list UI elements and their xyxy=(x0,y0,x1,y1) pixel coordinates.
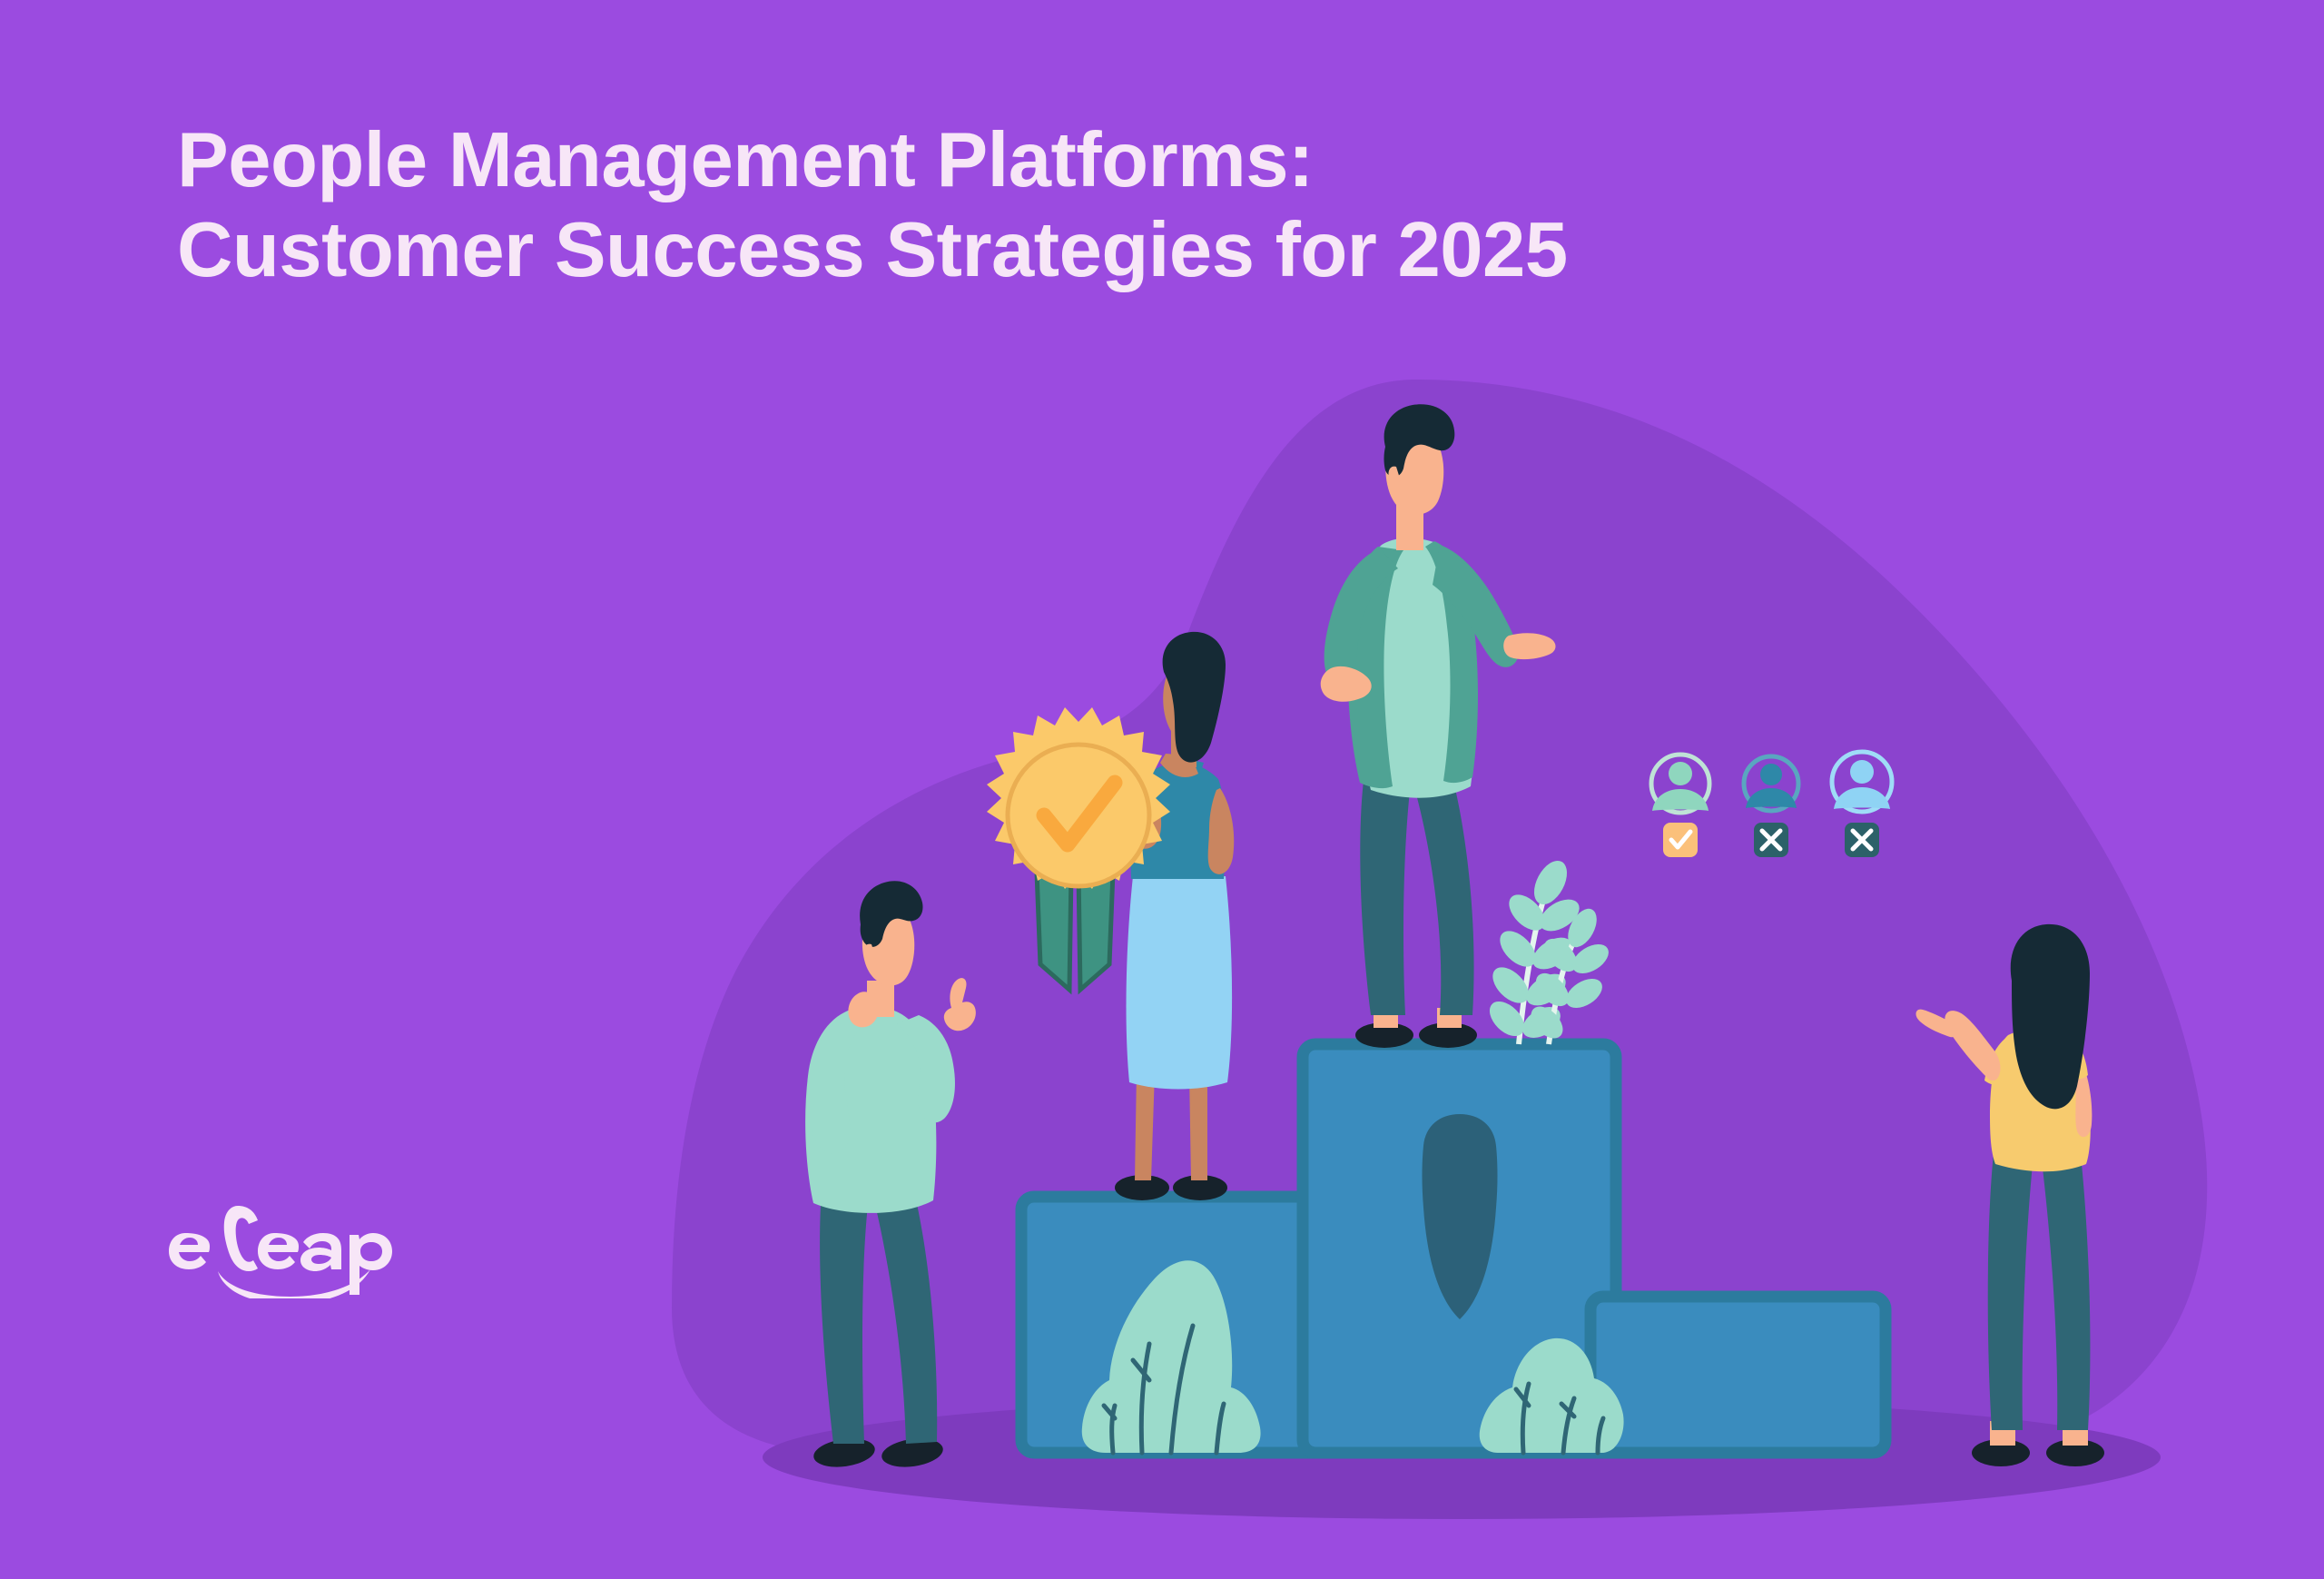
logo-letter-e2 xyxy=(258,1233,299,1269)
user-avatar-icon xyxy=(1652,762,1709,811)
award-badge-ribbon-right xyxy=(1078,872,1113,990)
banner-root: People Management Platforms: Customer Su… xyxy=(0,0,2324,1579)
left-man-hand-pointing xyxy=(944,978,976,1031)
left-man-leg-front xyxy=(871,1185,937,1444)
title-line-1: People Management Platforms: xyxy=(177,116,1993,206)
logo-letter-L xyxy=(224,1206,258,1271)
logo-letter-a xyxy=(300,1233,341,1271)
woman-with-badge xyxy=(987,632,1234,1200)
user-avatar-icon xyxy=(1746,764,1797,808)
center-man-leg-left xyxy=(1360,781,1411,1015)
award-badge-ribbon-left xyxy=(1037,872,1071,990)
right-woman-leg-right xyxy=(2041,1153,2090,1430)
woman-badge-skirt xyxy=(1127,876,1233,1090)
right-woman-leg-left xyxy=(1988,1153,2033,1430)
leaf-sprig-tall xyxy=(1483,855,1614,1044)
woman-badge-leg-left xyxy=(1135,1071,1155,1180)
left-man-neck xyxy=(867,981,894,1017)
user-avatar-rejected-1[interactable] xyxy=(1744,756,1798,857)
user-avatar-icon xyxy=(1834,760,1890,809)
user-avatar-approved[interactable] xyxy=(1651,755,1709,857)
logo-letter-e xyxy=(169,1233,210,1269)
center-man-leg-right xyxy=(1413,777,1474,1015)
center-man-hand-extended xyxy=(1503,633,1555,659)
award-badge-inner-circle xyxy=(1008,745,1149,886)
user-avatar-rejected-2[interactable] xyxy=(1832,752,1892,857)
user-status-cluster xyxy=(1651,752,1892,857)
page-title: People Management Platforms: Customer Su… xyxy=(177,116,1993,295)
eleap-logo[interactable] xyxy=(163,1180,399,1298)
woman-pointing-right xyxy=(1916,924,2104,1466)
right-podium-block xyxy=(1590,1297,1886,1453)
right-podium xyxy=(1590,1297,1886,1453)
eleap-logo-mark xyxy=(163,1180,399,1298)
man-pointing-left xyxy=(805,881,976,1470)
left-man-leg-back xyxy=(820,1189,870,1444)
right-woman-arm-raised xyxy=(1945,1011,2000,1081)
status-badge-approved xyxy=(1663,823,1698,857)
logo-swoosh xyxy=(218,1269,370,1298)
title-line-2: Customer Success Strategies for 2025 xyxy=(177,206,1993,296)
